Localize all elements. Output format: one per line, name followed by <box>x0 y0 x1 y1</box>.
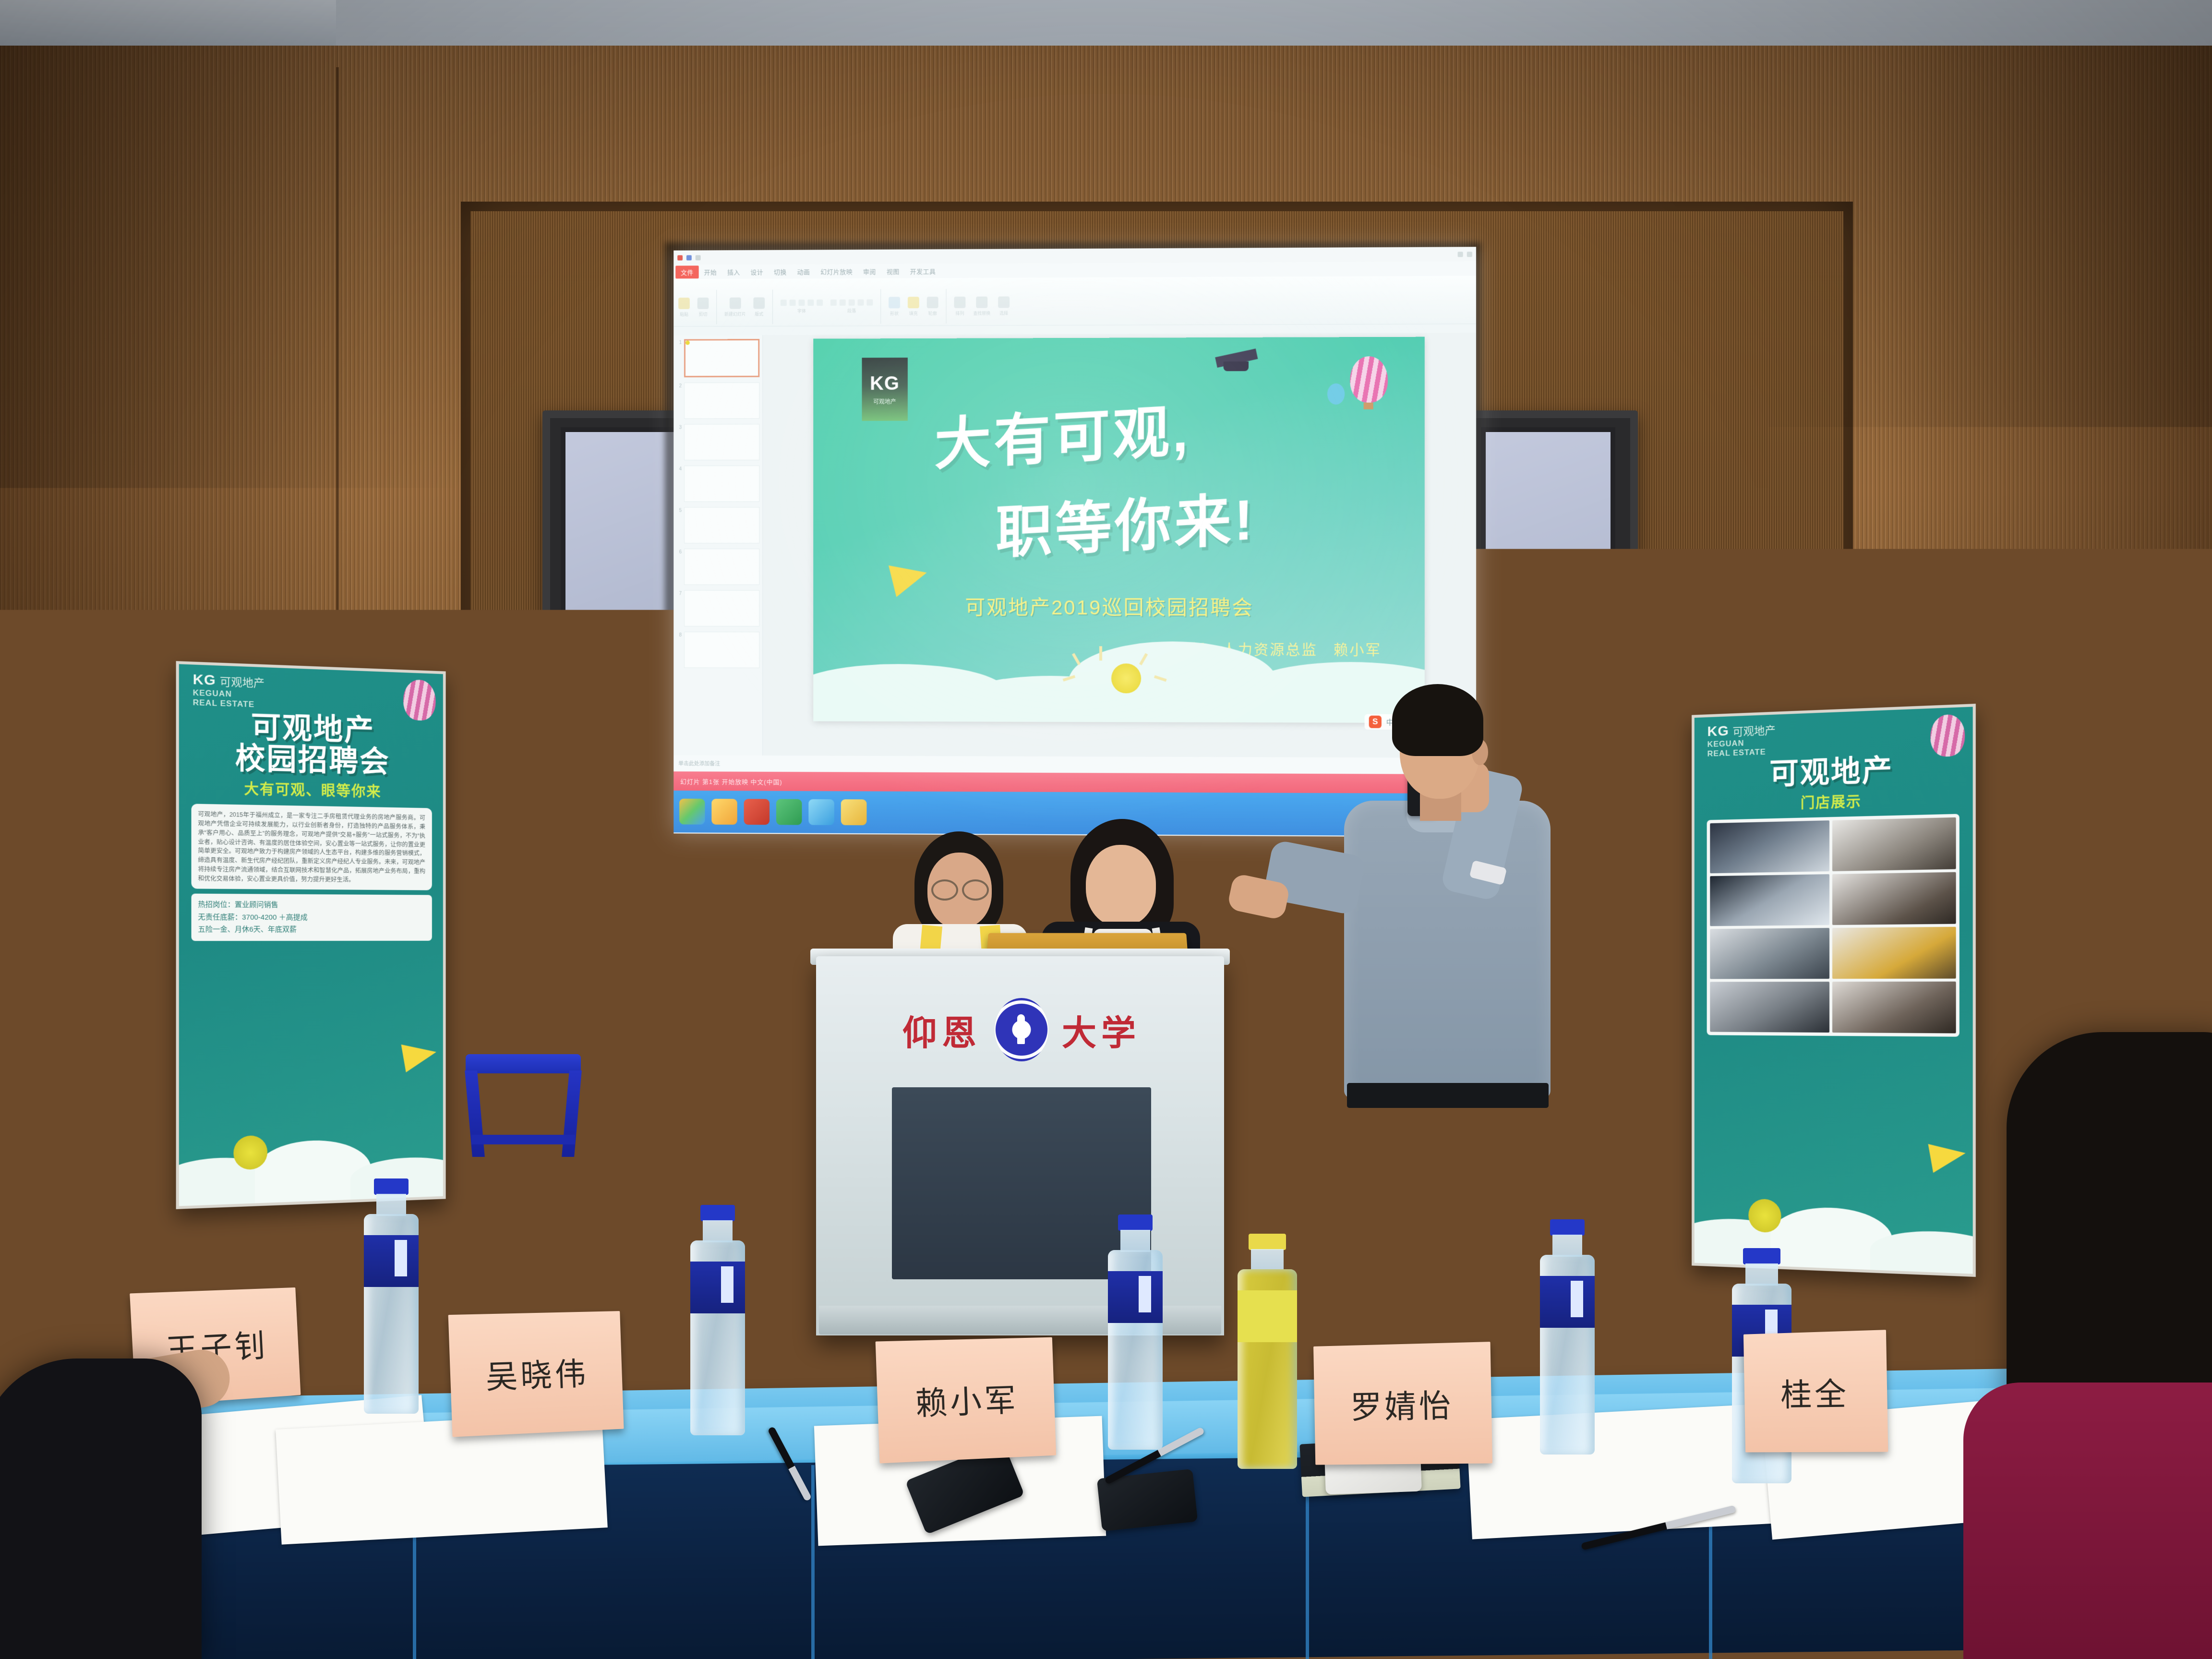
slide-thumb-preview[interactable] <box>684 590 759 626</box>
paper-plane-icon <box>1928 1139 1968 1173</box>
minimize-icon[interactable] <box>1458 252 1463 257</box>
ribbon-label: 段落 <box>847 308 856 314</box>
save-icon[interactable] <box>677 255 683 260</box>
search-icon[interactable] <box>976 296 987 308</box>
logo-en-line2: REAL ESTATE <box>193 697 255 709</box>
slide-number: 4 <box>676 466 682 472</box>
store-showcase-banner-right: KG 可观地产 KEGUAN REAL ESTATE 可观地产 门店展示 Co <box>1692 704 1976 1277</box>
ribbon-group-paragraph[interactable]: 段落 <box>830 300 873 314</box>
blue-stool-right <box>1536 1094 1649 1205</box>
logo-cn: 可观地产 <box>1732 721 1775 739</box>
paper-sheet[interactable] <box>276 1412 608 1544</box>
logo-en-line1: KEGUAN <box>193 688 232 698</box>
editor-body: 1 2 3 4 5 <box>673 333 1476 757</box>
ribbon-group-arrange[interactable]: 排列 <box>954 296 966 316</box>
audience-right-hair <box>2007 1032 2212 1426</box>
store-photo <box>1832 982 1956 1034</box>
banner-logo: KG 可观地产 <box>193 672 264 691</box>
slide-thumb-preview[interactable] <box>684 632 759 668</box>
scissors-icon[interactable] <box>697 297 709 309</box>
name-card-4[interactable]: 罗婧怡 <box>1313 1342 1492 1465</box>
tab-slideshow[interactable]: 幻灯片放映 <box>815 264 858 277</box>
tab-transitions[interactable]: 切换 <box>769 265 792 278</box>
logo-mark: KG <box>1707 723 1729 740</box>
tea-bottle[interactable] <box>1234 1234 1301 1469</box>
ribbon-group-fill[interactable]: 填充 <box>908 297 919 316</box>
ribbon-divider <box>716 290 717 325</box>
ribbon-group-outline[interactable]: 轮廓 <box>927 297 938 316</box>
host-face <box>1086 845 1156 926</box>
ribbon-label: 新建幻灯片 <box>724 311 746 317</box>
store-photo <box>1710 982 1829 1033</box>
undo-icon[interactable] <box>686 255 692 260</box>
ribbon-group-select[interactable]: 选择 <box>998 296 1010 316</box>
notes-placeholder[interactable]: 单击此处添加备注 <box>678 759 720 767</box>
ribbon-group-cut[interactable]: 剪切 <box>697 297 709 317</box>
logo-subtext: 可观地产 <box>873 397 896 406</box>
select-icon[interactable] <box>998 296 1010 308</box>
slide-1[interactable]: KG 可观地产 大有可观, 职等你来! 可观地产2019巡回校园招聘会 讲师：人… <box>813 337 1425 723</box>
water-bottle[interactable] <box>1104 1214 1166 1450</box>
lightbulb-icon <box>1111 663 1141 693</box>
slide-thumb-6[interactable]: 6 <box>676 549 759 585</box>
slide-thumb-3[interactable]: 3 <box>676 424 759 460</box>
banner-title: 可观地产 校园招聘会 <box>235 711 390 778</box>
banner-body-text: 可观地产，2015年于福州成立，是一家专注二手房租赁代理业务的房地产服务商。可观… <box>191 804 432 890</box>
arrange-icon[interactable] <box>954 296 966 308</box>
ribbon-group-shape[interactable]: 形状 <box>889 297 900 316</box>
slide-thumbnail-panel[interactable]: 1 2 3 4 5 <box>673 335 763 756</box>
slide-number: 3 <box>676 424 682 430</box>
banner-title-line2: 校园招聘会 <box>235 742 390 779</box>
slide-thumb-preview[interactable] <box>684 424 759 460</box>
keguan-logo: KG 可观地产 <box>862 358 907 421</box>
slide-thumb-1[interactable]: 1 <box>676 339 759 377</box>
slide-number: 8 <box>676 632 682 638</box>
tab-developer[interactable]: 开发工具 <box>905 264 941 277</box>
ribbon-divider <box>946 289 947 324</box>
speaker-belt <box>1347 1083 1549 1108</box>
underline-icon[interactable] <box>799 300 805 306</box>
ribbon-label: 形状 <box>890 310 899 316</box>
new-slide-icon[interactable] <box>729 297 741 309</box>
font-color-icon[interactable] <box>817 300 823 306</box>
banner-bullet-1: 热招岗位：置业顾问销售 <box>198 899 425 912</box>
ribbon-label: 填充 <box>909 310 918 316</box>
audience-left-body <box>0 1358 202 1659</box>
table-skirt-seam <box>811 1465 815 1659</box>
university-name-right: 大学 <box>1062 1005 1141 1055</box>
speaker-shirt <box>1344 801 1551 1098</box>
status-left-label: 幻灯片 第1张 开始放映 中文(中国) <box>680 777 782 786</box>
ribbon-label: 查找替换 <box>973 310 990 316</box>
slide-canvas[interactable]: KG 可观地产 大有可观, 职等你来! 可观地产2019巡回校园招聘会 讲师：人… <box>763 333 1476 757</box>
store-photo-gallery <box>1707 814 1959 1037</box>
align-center-icon[interactable] <box>858 300 864 306</box>
store-photo <box>1832 817 1956 871</box>
media-icon[interactable] <box>841 799 867 825</box>
redo-icon[interactable] <box>696 255 701 260</box>
name-card-2[interactable]: 吴晓伟 <box>448 1311 624 1437</box>
ribbon-label: 粘贴 <box>680 311 688 317</box>
auditorium-scene: 文件 开始 插入 设计 切换 动画 幻灯片放映 审阅 视图 开发工具 粘贴 剪切… <box>0 0 2212 1659</box>
bullets-icon[interactable] <box>830 300 837 306</box>
tab-view[interactable]: 视图 <box>881 264 905 277</box>
slide-thumb-preview[interactable] <box>684 339 759 377</box>
shape-icon[interactable] <box>889 297 900 308</box>
water-bottle[interactable] <box>360 1178 422 1414</box>
tab-animations[interactable]: 动画 <box>792 265 816 278</box>
banner-title: 可观地产 <box>1769 755 1893 790</box>
logo-en-line2: REAL ESTATE <box>1707 747 1766 758</box>
recruitment-banner-left: KG 可观地产 KEGUAN REAL ESTATE 可观地产 校园招聘会 大有… <box>176 661 446 1209</box>
slide-thumb-7[interactable]: 7 <box>676 590 759 626</box>
hot-air-balloon-icon <box>1350 356 1388 403</box>
whiteboard-pane-right-top <box>1481 427 1615 667</box>
italic-icon[interactable] <box>790 300 796 306</box>
name-card-3[interactable]: 赖小军 <box>876 1337 1057 1464</box>
strikethrough-icon[interactable] <box>807 300 814 306</box>
slide-number: 6 <box>676 549 682 555</box>
slide-thumb-5[interactable]: 5 <box>676 507 759 543</box>
logo-mark: KG <box>870 373 900 395</box>
banner-slogan: 大有可观、眼等你来 <box>244 777 382 801</box>
ribbon-group-layout[interactable]: 版式 <box>753 297 765 317</box>
presentation-status-strip[interactable]: 幻灯片 第1张 开始放映 中文(中国) 备注 批注 视图 缩放 <box>673 771 1476 793</box>
glasses-right-lens-icon <box>962 879 989 901</box>
close-icon[interactable] <box>1467 252 1472 257</box>
ribbon-label: 排列 <box>955 310 964 316</box>
banner-bullets: 热招岗位：置业顾问销售 无责任底薪：3700-4200 ＋高提成 五险一金、月休… <box>191 894 432 941</box>
speaker-hair <box>1392 684 1483 756</box>
university-name-left: 仰恩 <box>902 1005 981 1055</box>
numbering-icon[interactable] <box>840 300 846 306</box>
fill-icon[interactable] <box>908 297 919 308</box>
water-bottle[interactable] <box>1536 1219 1599 1455</box>
tab-insert[interactable]: 插入 <box>722 265 745 278</box>
slide-headline-line1: 大有可观, <box>935 385 1191 481</box>
banner-logo-en: KEGUAN REAL ESTATE <box>193 688 255 709</box>
ribbon-group-find[interactable]: 查找替换 <box>973 296 990 316</box>
slide-headline-line2: 职等你来! <box>996 473 1256 569</box>
slide-thumb-preview[interactable] <box>684 466 759 502</box>
name-card-5[interactable]: 桂全 <box>1743 1330 1888 1452</box>
outline-icon[interactable] <box>927 297 938 308</box>
font-controls[interactable] <box>781 300 823 306</box>
banner-logo-en: KEGUAN REAL ESTATE <box>1707 738 1766 758</box>
align-right-icon[interactable] <box>866 300 873 306</box>
logo-cn: 可观地产 <box>220 673 264 691</box>
slide-number: 7 <box>676 590 682 596</box>
slide-number: 1 <box>676 339 682 346</box>
slide-thumb-2[interactable]: 2 <box>676 383 759 419</box>
windows-start-icon[interactable] <box>679 799 705 825</box>
layout-icon[interactable] <box>753 297 765 309</box>
slide-number: 2 <box>676 383 682 389</box>
banner-title-line1: 可观地产 <box>251 711 375 748</box>
slide-thumb-8[interactable]: 8 <box>676 632 759 668</box>
paper-plane-icon <box>401 1038 439 1072</box>
align-left-icon[interactable] <box>849 300 855 306</box>
powerpoint-icon[interactable] <box>744 799 769 825</box>
slide-thumb-preview[interactable] <box>684 383 759 419</box>
ribbon-label: 剪切 <box>699 311 708 317</box>
paste-icon[interactable] <box>678 298 690 309</box>
balloon-icon <box>403 679 435 721</box>
store-photo <box>1832 927 1956 979</box>
projected-presentation-screen[interactable]: 文件 开始 插入 设计 切换 动画 幻灯片放映 审阅 视图 开发工具 粘贴 剪切… <box>673 247 1476 837</box>
logo-mark: KG <box>193 672 216 689</box>
store-photo <box>1710 928 1829 979</box>
store-photo <box>1832 872 1956 925</box>
glasses-left-lens-icon <box>931 879 958 901</box>
ribbon-group-font[interactable]: 字体 <box>781 300 823 314</box>
logo-en-line1: KEGUAN <box>1707 739 1744 749</box>
slide-subtitle: 可观地产2019巡回校园招聘会 <box>965 591 1253 621</box>
ribbon-divider <box>880 289 881 324</box>
slide-number: 5 <box>676 507 682 513</box>
ribbon-group-new-slide[interactable]: 新建幻灯片 <box>724 297 746 317</box>
slide-thumb-preview[interactable] <box>684 507 759 543</box>
tab-design[interactable]: 设计 <box>745 265 769 278</box>
browser-icon[interactable] <box>808 799 834 825</box>
bold-icon[interactable] <box>781 300 787 306</box>
ribbon-label: 字体 <box>797 308 806 314</box>
balloon-icon <box>1930 714 1965 757</box>
store-photo <box>1710 820 1829 873</box>
ribbon-divider <box>772 289 773 324</box>
ribbon-label: 轮廓 <box>928 310 937 316</box>
excel-icon[interactable] <box>776 799 802 825</box>
ribbon[interactable]: 粘贴 剪切 新建幻灯片 版式 <box>673 276 1476 336</box>
ribbon-group-paste[interactable]: 粘贴 <box>678 298 690 317</box>
paper-plane-icon <box>889 557 931 597</box>
ribbon-label: 版式 <box>755 311 763 317</box>
slide-thumb-preview[interactable] <box>684 549 759 585</box>
yangen-university-seal-icon <box>995 998 1048 1061</box>
tab-review[interactable]: 审阅 <box>858 264 881 277</box>
cloud-decoration <box>813 630 1425 723</box>
sogou-ime-icon[interactable]: S <box>1369 716 1382 728</box>
banner-slogan: 门店展示 <box>1801 789 1862 812</box>
small-balloon-icon <box>1327 384 1345 405</box>
banner-bullet-3: 五险一金、月休6天、年底双薪 <box>198 924 425 936</box>
tab-file[interactable]: 文件 <box>675 265 698 278</box>
podium-branding: 仰恩 大学 <box>829 998 1214 1061</box>
store-photo <box>1710 874 1829 926</box>
blue-stool-left <box>466 1054 581 1165</box>
ribbon-label: 选择 <box>999 310 1008 316</box>
banner-logo: KG 可观地产 <box>1707 721 1776 740</box>
slide-thumb-4[interactable]: 4 <box>676 466 759 502</box>
graduation-cap-icon <box>1215 353 1257 372</box>
explorer-icon[interactable] <box>711 799 737 825</box>
water-bottle[interactable] <box>686 1205 749 1435</box>
paragraph-controls[interactable] <box>830 300 873 306</box>
banner-bullet-2: 无责任底薪：3700-4200 ＋高提成 <box>198 911 425 924</box>
tab-home[interactable]: 开始 <box>699 265 722 278</box>
